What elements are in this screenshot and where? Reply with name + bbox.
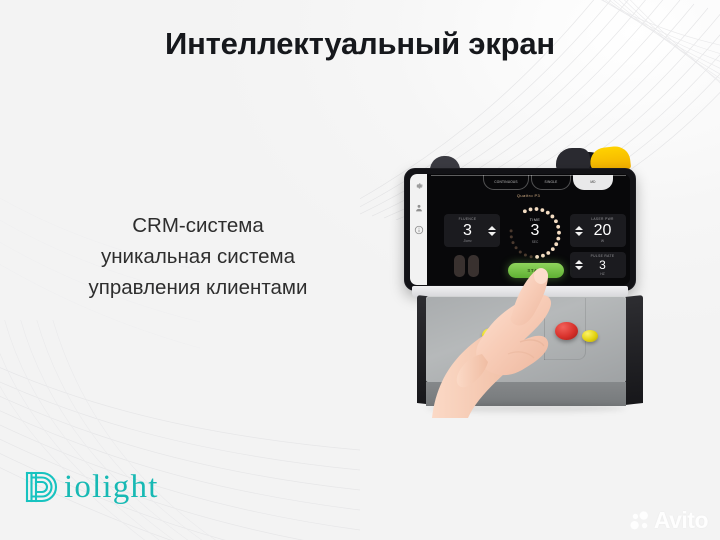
mode-label: Quattro P3 [427,193,630,198]
avito-wordmark: Avito [654,509,708,532]
base-side-right [625,295,643,405]
diolight-d-mark-icon [22,467,60,507]
pointing-hand [424,242,574,418]
description-line-2: уникальная система [48,241,348,272]
avito-watermark: Avito [630,509,708,532]
chevron-up-icon[interactable] [575,226,583,230]
laser-power-stepper[interactable] [574,226,583,236]
chevron-down-icon[interactable] [575,232,583,236]
settings-icon[interactable] [414,181,424,191]
avito-dots-icon [630,511,650,531]
info-icon[interactable] [414,225,424,235]
screen-tab-bar[interactable]: CONTINUOUS SINGLE MD [427,174,630,191]
pulse-rate-unit: HZ [583,272,622,277]
laser-device: CONTINUOUS SINGLE MD Quattro P3 FLUENCE … [396,146,654,418]
page-title: Интеллектуальный экран [0,26,720,62]
description-text: CRM-система уникальная система управлени… [48,210,348,303]
fluence-value: 3 [448,222,487,239]
pulse-rate-value: 3 [583,259,622,272]
pulse-rate-card[interactable]: PULSE RATE 3 HZ [570,252,626,278]
description-line-1: CRM-система [48,210,348,241]
fluence-stepper[interactable] [487,226,496,236]
chevron-up-icon[interactable] [575,260,583,264]
background-texture-bottom-left [0,320,360,540]
user-icon[interactable] [414,203,424,213]
indicator-yellow-right[interactable] [582,330,598,342]
diolight-logo: iolight [22,467,159,507]
description-line-3: управления клиентами [48,272,348,303]
time-value: 3 [517,222,553,240]
laser-power-unit: W [583,239,622,244]
tab-single[interactable]: SINGLE [531,175,571,190]
diolight-wordmark: iolight [64,470,159,504]
laser-power-value: 20 [583,222,622,239]
chevron-down-icon[interactable] [488,232,496,236]
chevron-down-icon[interactable] [575,266,583,270]
slide-canvas: Интеллектуальный экран CRM-система уника… [0,0,720,540]
tab-continuous[interactable]: CONTINUOUS [483,175,529,190]
tab-md[interactable]: MD [573,175,613,190]
laser-power-card[interactable]: LASER PWR 20 W [570,214,626,247]
pulse-rate-stepper[interactable] [574,260,583,270]
chevron-up-icon[interactable] [488,226,496,230]
